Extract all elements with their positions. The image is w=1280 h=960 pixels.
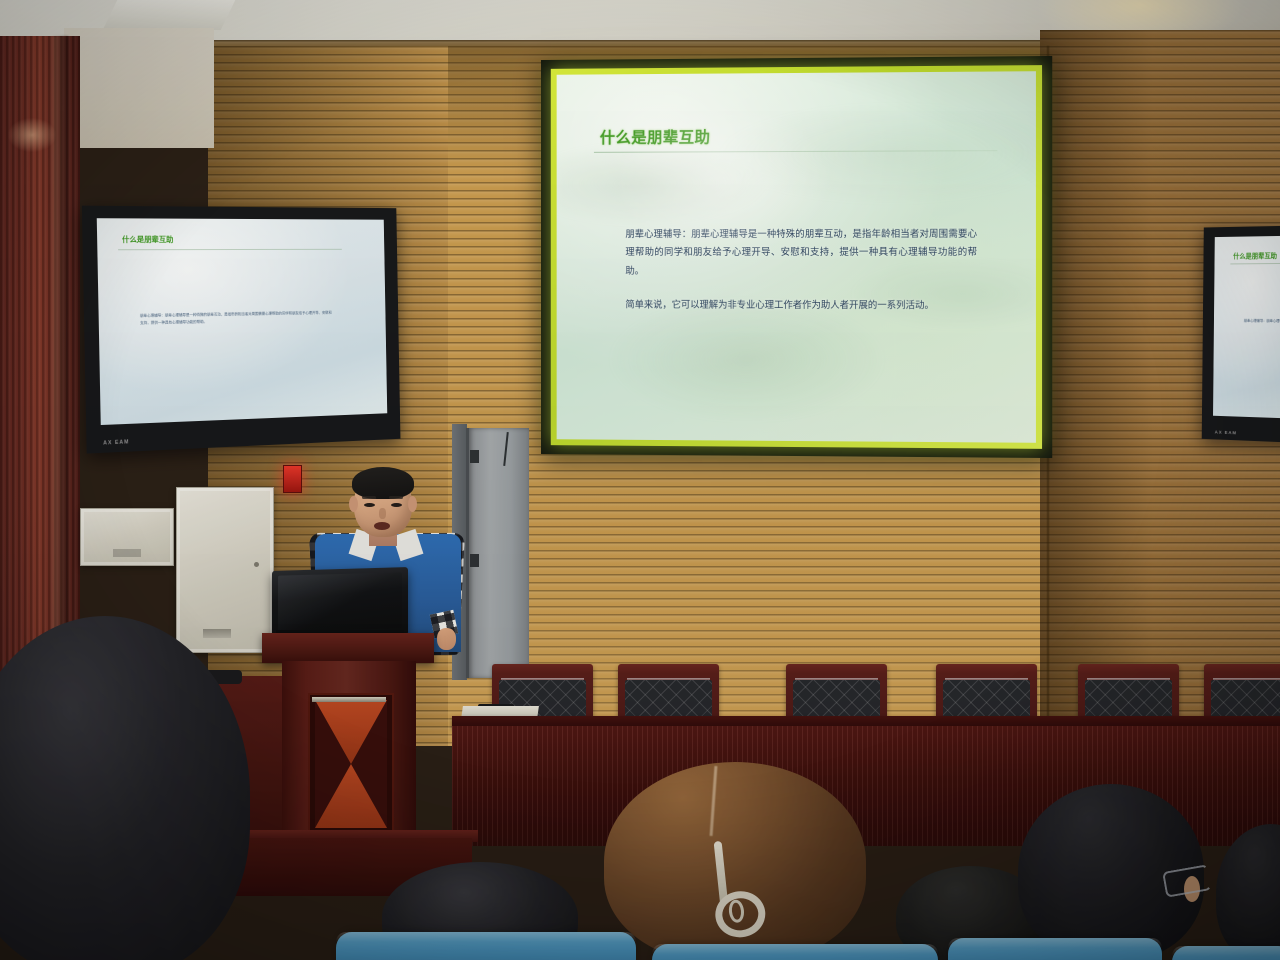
red-alarm-light [283,465,302,493]
panel-chair [618,664,719,722]
utility-panel-small [80,508,174,566]
chair-highlight [948,938,1162,948]
monitor-left-body-1: 朋辈心理辅导：朋辈心理辅导是一种特殊的朋辈互动，是指年龄相当者对周围需要心理帮助… [140,310,332,327]
hair-parting [710,766,718,836]
speaker-eye-left [364,503,375,507]
monitor-left-screen: 什么是朋辈互助 朋辈心理辅导：朋辈心理辅导是一种特殊的朋辈互动，是指年龄相当者对… [97,218,387,425]
speaker-hair [352,467,414,499]
speaker-ear-right [408,496,417,512]
monitor-right-screen: 什么是朋辈互助 朋辈心理辅导：朋辈心理辅导是一种 [1213,235,1280,420]
chair-highlight [652,944,938,954]
wall-monitor-right: 什么是朋辈互助 朋辈心理辅导：朋辈心理辅导是一种 AX EAM [1202,224,1280,445]
left-plaster-wall [64,28,214,148]
slide-title: 什么是朋辈互助 [600,125,711,147]
wall-monitor-left: 什么是朋辈互助 朋辈心理辅导：朋辈心理辅导是一种特殊的朋辈互动，是指年龄相当者对… [82,206,401,454]
laptop-screen [272,567,408,639]
metal-door [466,428,529,678]
speaker-eyebrow-left [362,496,376,499]
panel-lock-knob [254,562,259,567]
slide-body: 朋辈心理辅导：朋辈心理辅导是一种特殊的朋辈互动，是指年龄相当者对周围需要心理帮助… [625,225,977,315]
speaker-hand [437,628,456,650]
podium-top-surface [262,633,434,663]
chair-highlight [336,932,636,942]
monitor-right-brand-label: AX EAM [1215,430,1237,436]
lecture-hall-photo: 什么是朋辈互助 朋辈心理辅导：朋辈心理辅导是一种特殊的朋辈互动，是指年龄相当者对… [0,0,1280,960]
panel-chair [1204,664,1280,722]
panel-chair [786,664,887,722]
speaker-nose [379,508,386,519]
audience-chair [336,932,636,960]
eyeglasses [1162,864,1212,898]
monitor-right-title-underline [1230,262,1280,264]
panel-label-plate [113,549,141,557]
speaker-mouth [374,522,390,530]
projection-screen: 什么是朋辈互助 朋辈心理辅导：朋辈心理辅导是一种特殊的朋辈互动，是指年龄相当者对… [541,56,1052,458]
speaker-eyebrow-right [389,496,403,499]
monitor-right-slide-title: 什么是朋辈互助 [1233,250,1277,260]
monitor-left-slide-title: 什么是朋辈互助 [122,235,173,245]
panel-chair [936,664,1037,722]
ceiling-vent [103,0,236,30]
utility-panel-large [176,487,274,653]
monitor-left-brand-label: AX EAM [103,439,129,446]
audience-chair [1172,946,1280,960]
monitor-left-title-underline [118,249,342,250]
podium-bowtie-inlay [315,700,387,828]
panel-chair [1078,664,1179,722]
slide-surface: 什么是朋辈互助 朋辈心理辅导：朋辈心理辅导是一种特殊的朋辈互动，是指年龄相当者对… [557,71,1036,443]
audience-head [1018,784,1204,960]
monitor-right-body-1: 朋辈心理辅导：朋辈心理辅导是一种 [1244,318,1280,325]
door-hinge-lower [470,554,479,567]
panel-vent [203,629,231,638]
podium-inlay-trim [312,697,386,702]
door-hinge-upper [470,450,479,463]
audience-chair [948,938,1162,960]
speaker-ear-left [349,496,358,512]
slide-paragraph-1: 朋辈心理辅导：朋辈心理辅导是一种特殊的朋辈互动，是指年龄相当者对周围需要心理帮助… [625,225,977,280]
slide-paragraph-2: 简单来说，它可以理解为非专业心理工作者作为助人者开展的一系列活动。 [625,296,977,315]
door-cable [503,432,509,466]
column-light-reflection [8,118,56,152]
speaker-eye-right [391,503,402,507]
chair-highlight [1172,946,1280,956]
audience-chair [652,944,938,960]
podium-inlay-frame [308,693,394,835]
